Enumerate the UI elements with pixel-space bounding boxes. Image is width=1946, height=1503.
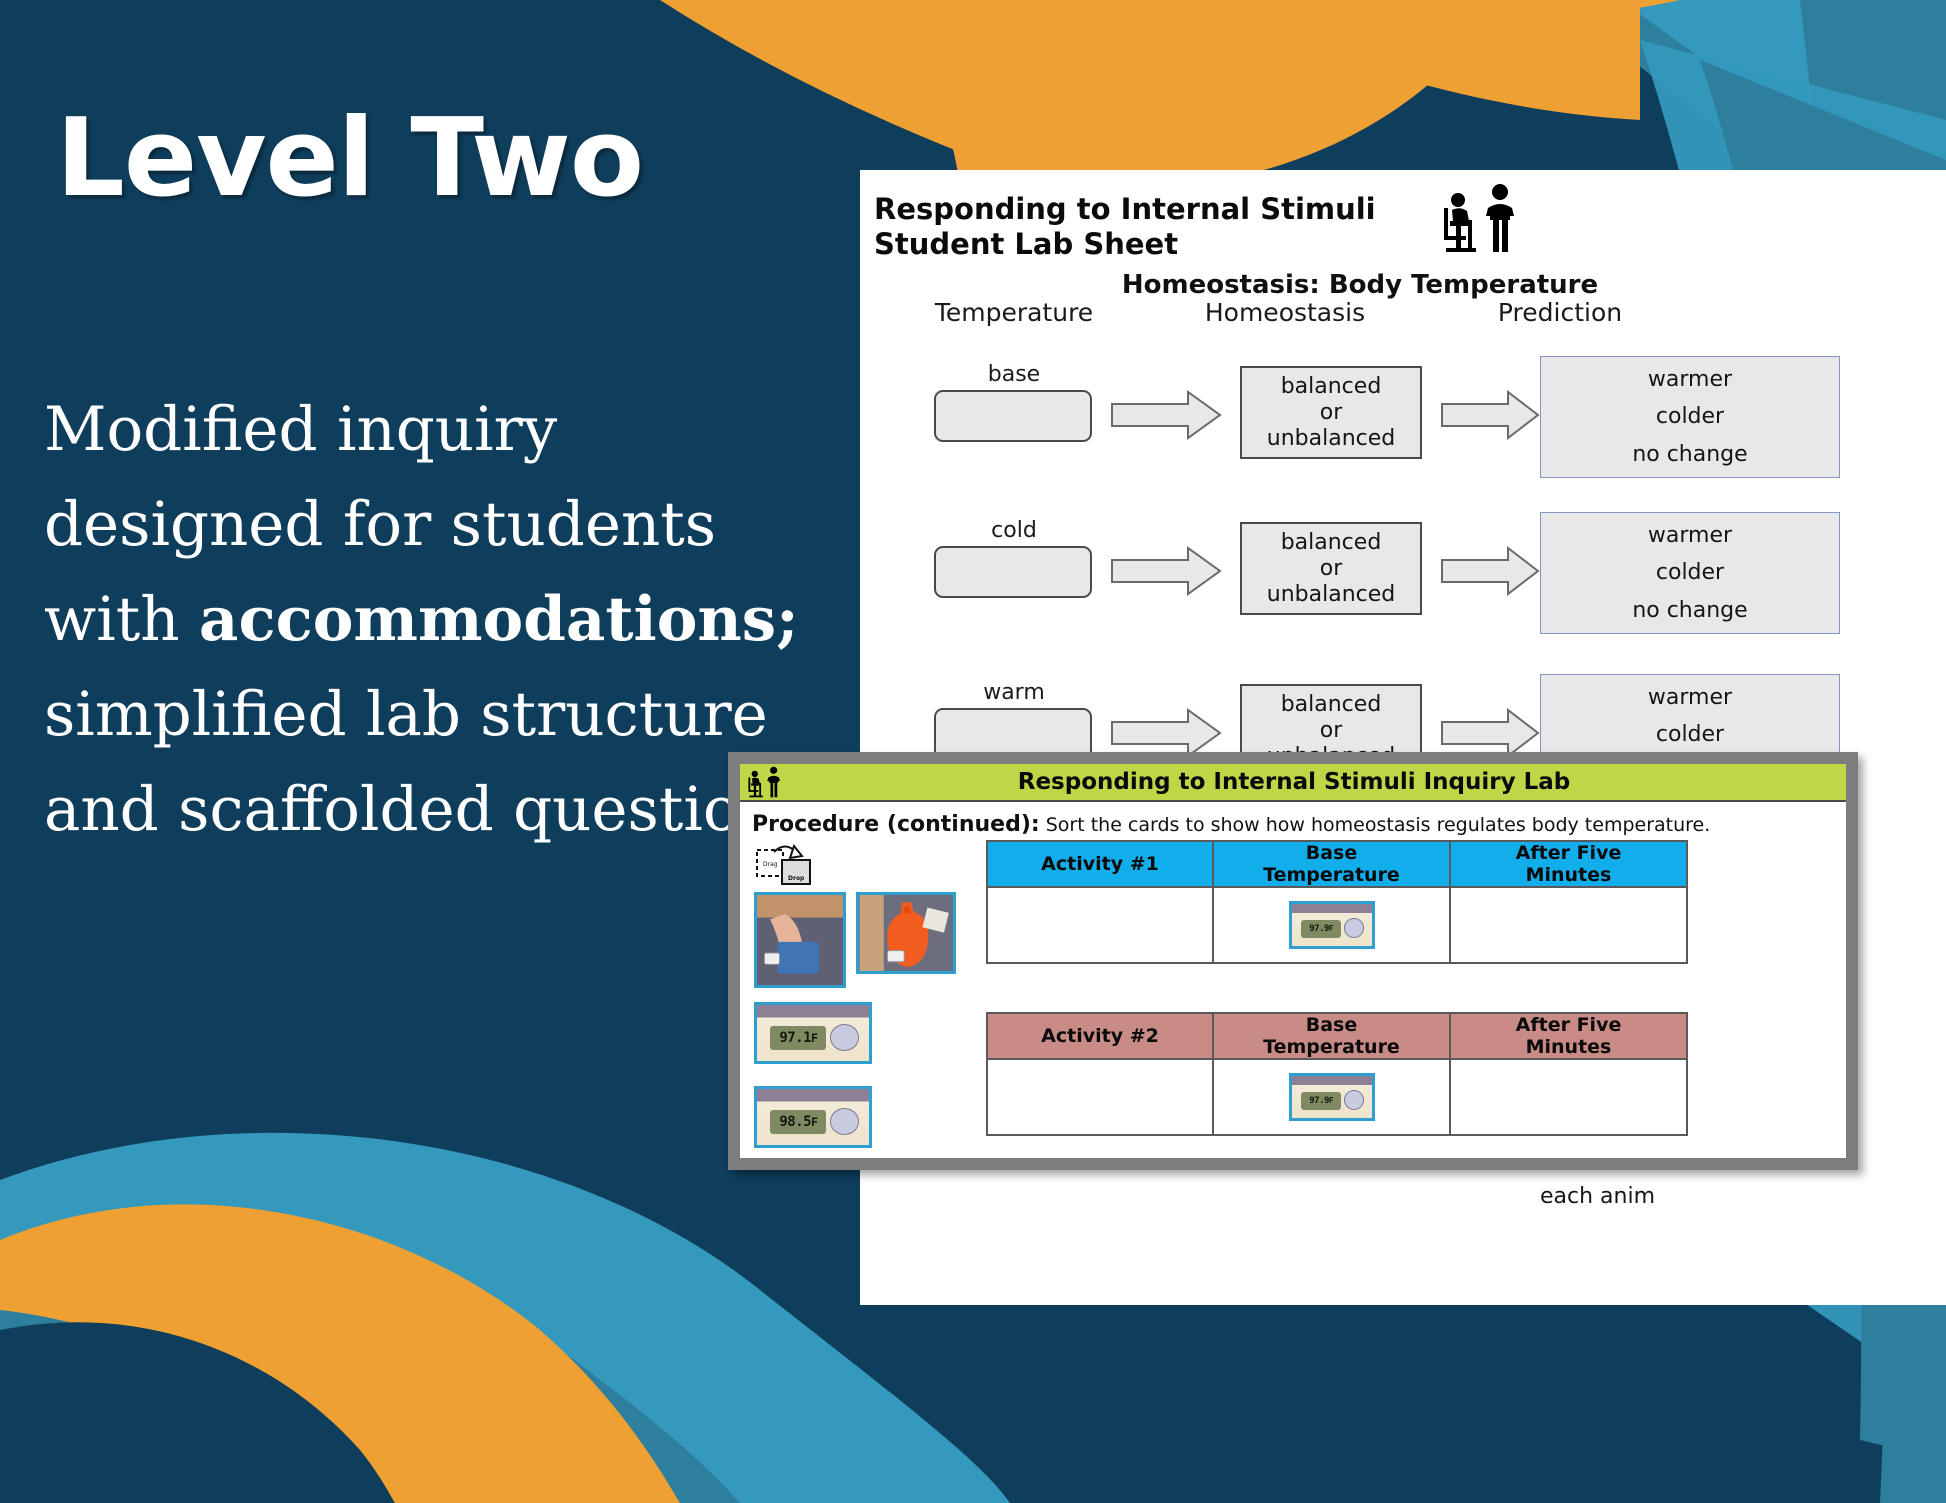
homeostasis-line-2: or — [1320, 400, 1343, 426]
thermometer-value: 97.9 — [1309, 1096, 1329, 1106]
cell-base-temperature-thermometer[interactable]: 97.9F — [1213, 1059, 1450, 1135]
prediction-option-warmer: warmer — [1648, 367, 1732, 392]
activity-1-table: Activity #1 Base Temperature After Five … — [986, 840, 1688, 964]
lab-sheet-footnote: each anim — [1540, 1182, 1840, 1212]
lab-sheet-subtitle: Homeostasis: Body Temperature — [860, 270, 1946, 300]
homeostasis-line-1: balanced — [1281, 530, 1382, 556]
thermometer-reading: 97.9F — [1301, 1092, 1341, 1110]
thermometer-button[interactable] — [830, 1024, 859, 1051]
temperature-label: base — [924, 362, 1104, 387]
cell-activity-1-blank[interactable] — [987, 887, 1213, 963]
prediction-option-colder: colder — [1656, 560, 1724, 585]
table-row: 97.9F — [987, 887, 1687, 963]
homeostasis-line-3: unbalanced — [1267, 582, 1395, 608]
temperature-label: cold — [924, 518, 1104, 543]
body-text-part2: simplified lab structure and scaffolded … — [44, 679, 810, 845]
arrow-right-icon — [1440, 708, 1540, 758]
thermometer-value: 97.1 — [779, 1030, 811, 1046]
thermometer-button[interactable] — [830, 1108, 859, 1135]
svg-text:Drop: Drop — [788, 875, 805, 882]
drag-and-drop-icon[interactable]: Drag Drop — [754, 840, 814, 892]
homeostasis-line-2: or — [1320, 556, 1343, 582]
homeostasis-line-3: unbalanced — [1267, 426, 1395, 452]
prediction-option-colder: colder — [1656, 404, 1724, 429]
thermometer-graphic: 97.9F — [1292, 904, 1372, 946]
arrow-right-icon — [1110, 390, 1222, 440]
thermometer-value: 98.5 — [779, 1114, 811, 1130]
arm-photo-graphic — [757, 895, 843, 985]
thermometer-button[interactable] — [1344, 1090, 1365, 1110]
hot-water-bottle-photo — [856, 892, 956, 974]
cell-after-five-minutes-blank[interactable] — [1450, 887, 1687, 963]
thermometer-button[interactable] — [1344, 918, 1365, 938]
homeostasis-box: balanced or unbalanced — [1240, 522, 1422, 615]
homeostasis-box: balanced or unbalanced — [1240, 366, 1422, 459]
thermometer-97-9-photo: 97.9F — [1289, 901, 1375, 949]
svg-text:Drag: Drag — [763, 861, 778, 868]
temperature-input-box[interactable] — [934, 390, 1092, 442]
prediction-option-no-change: no change — [1632, 442, 1747, 467]
prediction-option-no-change: no change — [1632, 598, 1747, 623]
column-header-homeostasis: Homeostasis — [1150, 298, 1420, 327]
prediction-box[interactable]: warmer colder no change — [1540, 512, 1840, 634]
arrow-right-icon — [1440, 546, 1540, 596]
header-activity-1: Activity #1 — [987, 841, 1213, 887]
thermometer-unit: F — [811, 1031, 818, 1045]
column-header-temperature: Temperature — [884, 298, 1144, 327]
thermometer-97-9-photo: 97.9F — [1289, 1073, 1375, 1121]
arrow-right-icon — [1110, 546, 1222, 596]
table-header-row: Activity #1 Base Temperature After Five … — [987, 841, 1687, 887]
arrow-right-icon — [1110, 708, 1222, 758]
bottle-photo-graphic — [859, 895, 953, 971]
thermometer-cell-wrapper: 97.9F — [1214, 1073, 1449, 1121]
thermometer-graphic: 98.5F — [757, 1089, 869, 1145]
temperature-input-box[interactable] — [934, 546, 1092, 598]
table-header-row: Activity #2 Base Temperature After Five … — [987, 1013, 1687, 1059]
homeostasis-line-1: balanced — [1281, 374, 1382, 400]
thermometer-98-5-photo: 98.5F — [754, 1086, 872, 1148]
prediction-option-colder: colder — [1656, 722, 1724, 747]
teacher-and-student-icon — [1438, 178, 1528, 258]
homeostasis-line-1: balanced — [1281, 692, 1382, 718]
header-after-five-minutes: After Five Minutes — [1450, 1013, 1687, 1059]
body-text-emphasis: accommodations; — [199, 584, 799, 655]
cell-base-temperature-thermometer[interactable]: 97.9F — [1213, 887, 1450, 963]
cell-activity-2-blank[interactable] — [987, 1059, 1213, 1135]
procedure-text: Procedure (continued): Sort the cards to… — [752, 812, 1710, 837]
thermometer-cell-wrapper: 97.9F — [1214, 901, 1449, 949]
prediction-box[interactable]: warmer colder no change — [1540, 356, 1840, 478]
header-base-temperature: Base Temperature — [1213, 841, 1450, 887]
thermometer-reading: 97.9F — [1301, 920, 1341, 938]
thermometer-value: 97.9 — [1309, 924, 1329, 934]
inquiry-lab-panel: Responding to Internal Stimuli Inquiry L… — [728, 752, 1858, 1170]
flow-row: base balanced or unbalanced warmer colde… — [860, 362, 1946, 527]
slide-body-text: Modified inquiry designed for students w… — [44, 382, 844, 857]
homeostasis-line-2: or — [1320, 718, 1343, 744]
inquiry-lab-header: Responding to Internal Stimuli Inquiry L… — [740, 764, 1846, 802]
prediction-option-warmer: warmer — [1648, 523, 1732, 548]
thermometer-graphic: 97.9F — [1292, 1076, 1372, 1118]
flow-row: cold balanced or unbalanced warmer colde… — [860, 518, 1946, 683]
column-header-prediction: Prediction — [1430, 298, 1690, 327]
temperature-label: warm — [924, 680, 1104, 705]
thermometer-reading: 97.1F — [770, 1026, 826, 1050]
prediction-option-warmer: warmer — [1648, 685, 1732, 710]
thermometer-unit: F — [811, 1115, 818, 1129]
thermometer-unit: F — [1329, 924, 1333, 933]
procedure-label: Procedure (continued): — [752, 812, 1040, 837]
header-base-temperature: Base Temperature — [1213, 1013, 1450, 1059]
header-after-five-minutes: After Five Minutes — [1450, 841, 1687, 887]
procedure-instruction: Sort the cards to show how homeostasis r… — [1046, 814, 1711, 836]
arrow-right-icon — [1440, 390, 1540, 440]
header-activity-2: Activity #2 — [987, 1013, 1213, 1059]
cell-after-five-minutes-blank[interactable] — [1450, 1059, 1687, 1135]
activity-2-table: Activity #2 Base Temperature After Five … — [986, 1012, 1688, 1136]
teacher-and-student-icon — [744, 764, 788, 800]
inquiry-lab-content: Responding to Internal Stimuli Inquiry L… — [740, 764, 1846, 1158]
lab-sheet-title: Responding to Internal Stimuli Student L… — [874, 192, 1376, 262]
thermometer-unit: F — [1329, 1096, 1333, 1105]
page-title: Level Two — [56, 96, 643, 221]
thermometer-graphic: 97.1F — [757, 1005, 869, 1061]
ice-pack-on-arm-photo — [754, 892, 846, 988]
thermometer-97-1-photo: 97.1F — [754, 1002, 872, 1064]
inquiry-lab-title: Responding to Internal Stimuli Inquiry L… — [788, 769, 1846, 795]
table-row: 97.9F — [987, 1059, 1687, 1135]
thermometer-reading: 98.5F — [770, 1110, 826, 1134]
